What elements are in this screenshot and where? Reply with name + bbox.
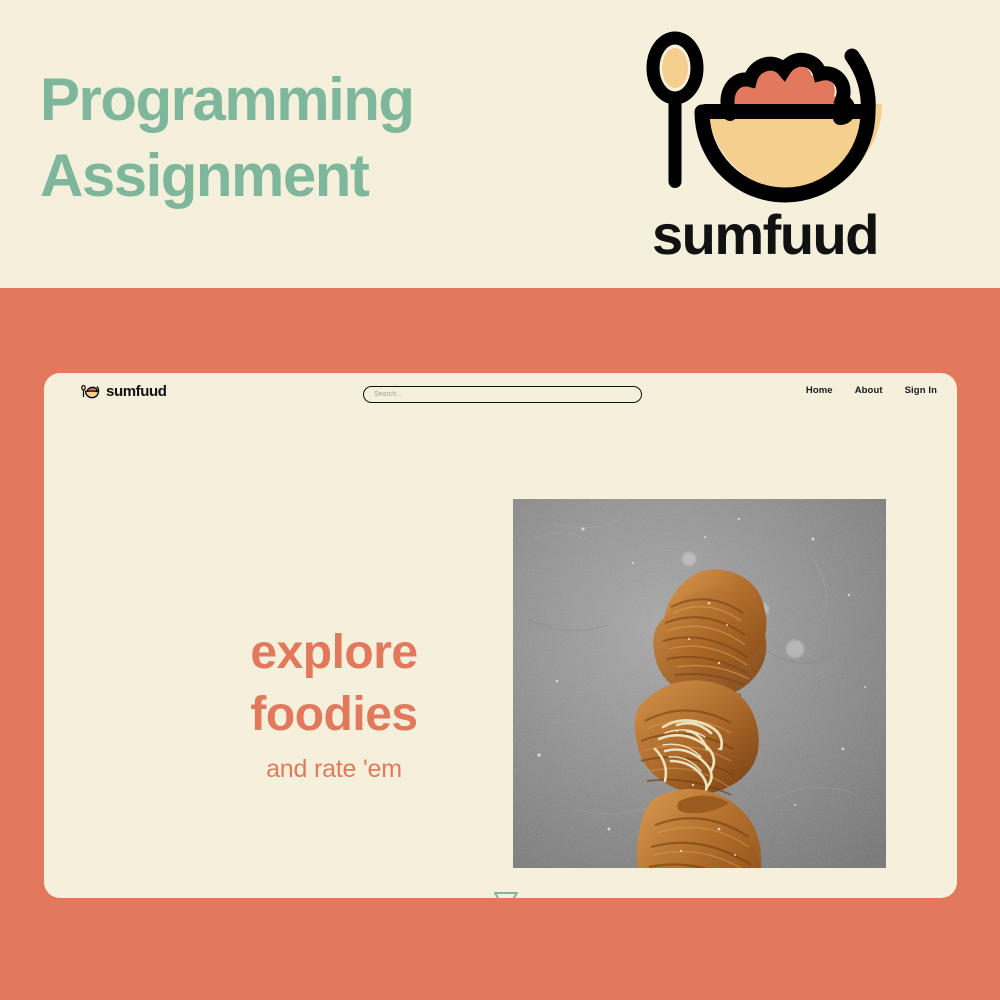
site-navbar: sumfuud Home About Sign In [44,373,957,417]
navbar-brand[interactable]: sumfuud [80,382,167,401]
navbar-links: Home About Sign In [806,385,937,396]
nav-link-sign-in[interactable]: Sign In [905,385,937,396]
search-input[interactable] [363,386,642,403]
hero-photo [513,499,886,868]
browser-mockup-card: sumfuud Home About Sign In explore foodi… [44,373,957,898]
brand-logo: sumfuud [630,26,900,266]
navbar-brand-wordmark: sumfuud [106,383,167,400]
hero-subtitle: and rate 'em [124,755,544,784]
hero-section: explore foodies and rate 'em [44,417,957,898]
brand-wordmark: sumfuud [630,202,900,267]
assignment-banner: Programming Assignment [0,0,1000,288]
page-title: Programming Assignment [40,62,414,214]
hero-title: explore foodies [124,622,544,746]
nav-link-home[interactable]: Home [806,385,833,396]
triangle-down-icon[interactable] [492,890,520,898]
hero-copy: explore foodies and rate 'em [124,622,544,784]
spoon-and-bowl-icon [630,26,900,206]
search-bar[interactable] [363,383,642,400]
nav-link-about[interactable]: About [855,385,883,396]
spoon-and-bowl-icon [80,382,101,401]
